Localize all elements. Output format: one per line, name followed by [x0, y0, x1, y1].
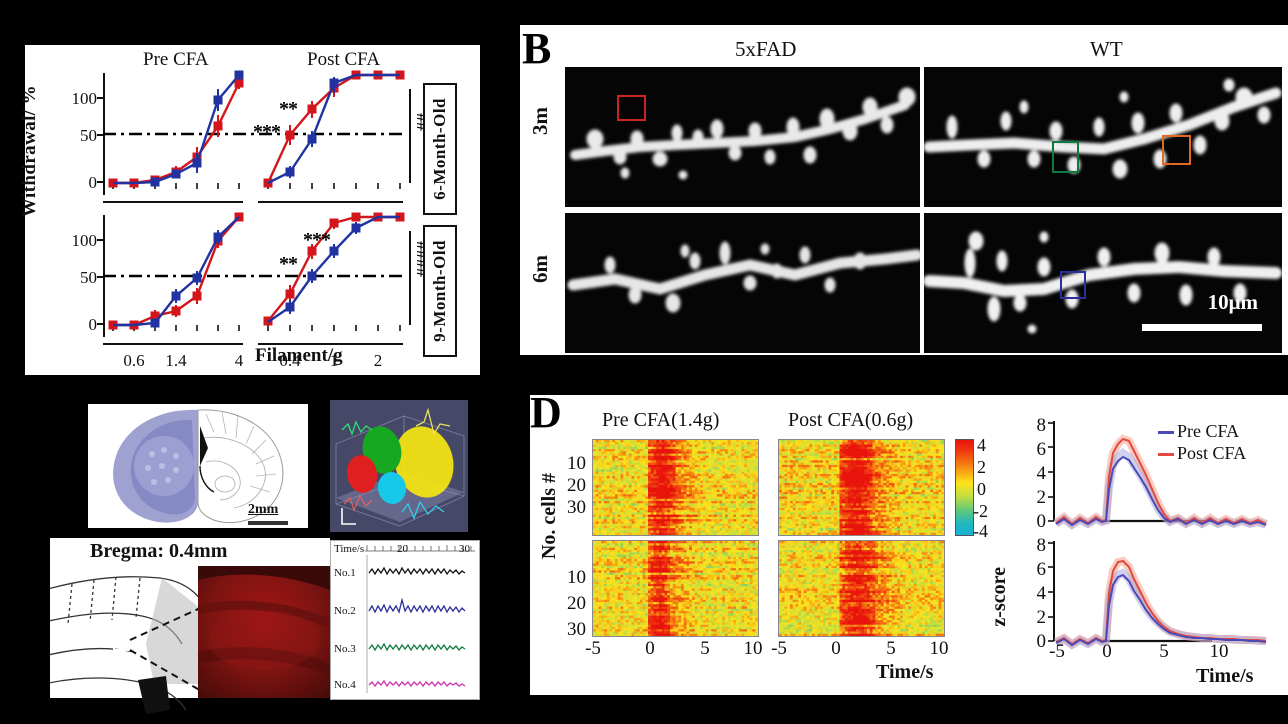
heatmap-xtick-pre-5: 5 — [688, 638, 722, 660]
colorbar-tick-0: 0 — [977, 479, 986, 500]
heatmap-xtick-pre-0: 0 — [633, 638, 667, 660]
trace-channel-label-2: No.2 — [334, 605, 356, 617]
heatmap-title-pre: Pre CFA(1.4g) — [602, 409, 719, 432]
panel-c-spike-cluster-3d — [330, 400, 468, 532]
y-tick-100: 100 — [57, 89, 97, 109]
y-tick-50: 50 — [57, 268, 97, 288]
panel-b-spines: B 5xFAD WT 3m 6m — [520, 25, 1288, 355]
column-header-5xfad: 5xFAD — [735, 37, 796, 62]
zscore-ytick-8-b: 8 — [1016, 535, 1046, 557]
heatmap-xtick-post-0: 0 — [819, 638, 853, 660]
heatmap-ytick-top-20: 20 — [556, 475, 586, 497]
zscore-ytick-4-b: 4 — [1016, 583, 1046, 605]
series-post-blue-6mo — [268, 75, 400, 183]
zscore-ytick-6-b: 6 — [1016, 559, 1046, 581]
panel-d-calcium: D Pre CFA(1.4g) Post CFA(0.6g) No. cells… — [530, 395, 1288, 695]
scale-bar-label-10um: 10μm — [1208, 290, 1258, 315]
zscore-ytick-4: 4 — [1016, 463, 1046, 485]
zscore-ytick-2: 2 — [1016, 487, 1046, 509]
panel-c-coronal-section: 2mm — [88, 404, 308, 528]
x-tick-pre-1.4: 1.4 — [156, 351, 196, 371]
panel-a-behavior: Pre CFA Post CFA Withdrawal/ % 100 50 0 — [25, 45, 480, 375]
zscore-ytick-0: 0 — [1016, 511, 1046, 533]
dendrite-render-wt-3m — [924, 67, 1282, 207]
significance-post-6mo-1: *** — [253, 121, 280, 144]
trace-time-tick-30: 30 — [459, 543, 470, 555]
heatmap-pre-top — [592, 439, 759, 536]
legend-swatch-post-cfa — [1158, 453, 1174, 456]
colorbar-tick-2: 2 — [977, 457, 986, 478]
legend-post-cfa: Post CFA — [1158, 443, 1246, 464]
x-ticks-post — [268, 183, 400, 189]
dendrite-render-5xfad-6m — [565, 213, 920, 353]
zscore-xtick-0: 0 — [1090, 641, 1124, 663]
zscore-xtick-10: 10 — [1202, 641, 1236, 663]
y-tick-0: 0 — [57, 173, 97, 193]
zscore-x-axis-title: Time/s — [1196, 665, 1253, 688]
trace-time-axis-label: Time/s — [334, 543, 364, 555]
zscore-ytick-6: 6 — [1016, 439, 1046, 461]
heatmap-xtick-post-5: 5 — [874, 638, 908, 660]
zscore-ytick-8: 8 — [1016, 415, 1046, 437]
micrograph-5xfad-6m — [565, 213, 920, 353]
trace-channel-label-4: No.4 — [334, 679, 356, 691]
micrograph-wt-6m: 10μm — [924, 213, 1282, 353]
colorbar — [955, 439, 974, 536]
zscore-trace-top: 8 6 4 2 0 Pre CFA Post CFA — [1030, 417, 1280, 535]
micrograph-5xfad-3m — [565, 67, 920, 207]
heatmap-ytick-top-10: 10 — [556, 453, 586, 475]
plot-svg-9mo — [103, 215, 403, 345]
legend-label-post-cfa: Post CFA — [1177, 443, 1246, 463]
legend-swatch-pre-cfa — [1158, 431, 1174, 434]
chart-6-month-old: 100 50 0 — [103, 73, 403, 203]
y-tick-100: 100 — [57, 231, 97, 251]
zscore-xtick-5: 5 — [1147, 641, 1181, 663]
age-label-9-month-old: 9-Month-Old — [430, 240, 450, 342]
colorbar-tick--4: -4 — [973, 521, 988, 542]
age-box-6-month-old: 6-Month-Old — [423, 83, 457, 215]
scale-bar-2mm — [248, 521, 288, 525]
panel-c-bregma-schematic: Bregma: 0.4mm — [50, 538, 330, 698]
cluster-3d-svg — [330, 400, 468, 532]
trace-post-cfa-bottom — [1056, 561, 1266, 644]
column-header-wt: WT — [1090, 37, 1123, 62]
post-cfa-header: Post CFA — [307, 49, 380, 71]
roi-box-red-5xfad-3m — [617, 95, 646, 121]
age-label-6-month-old: 6-Month-Old — [430, 98, 450, 200]
zscore-trace-top-svg — [1030, 417, 1280, 535]
trace-channel-label-1: No.1 — [334, 567, 356, 579]
recording-site-box — [114, 632, 130, 650]
scale-bar-label-2mm: 2mm — [248, 502, 278, 518]
trace-time-tick-20: 20 — [397, 543, 408, 555]
colorbar-tick--2: -2 — [973, 501, 988, 522]
heatmap-xtick-post-10: 10 — [922, 638, 956, 660]
heatmap-post-bottom — [778, 540, 945, 637]
panel-d-letter: D — [530, 391, 562, 435]
significance-post-9mo-1: ** — [279, 253, 297, 276]
heatmap-ytick-top-30: 30 — [556, 497, 586, 519]
zscore-y-axis-title: z-score — [988, 567, 1011, 627]
hash-bracket-9mo — [409, 231, 411, 325]
y-tick-50: 50 — [57, 126, 97, 146]
pre-cfa-header: Pre CFA — [143, 49, 209, 71]
chart-9-month-old: 100 50 0 — [103, 215, 403, 345]
trace-recordings-svg — [331, 541, 477, 697]
heatmap-pre-bottom — [592, 540, 759, 637]
legend-label-pre-cfa: Pre CFA — [1177, 421, 1239, 441]
heatmap-xtick-pre--5: -5 — [576, 638, 610, 660]
heatmap-post-top — [778, 439, 945, 536]
heatmap-title-post: Post CFA(0.6g) — [788, 409, 913, 432]
x-ticks-post — [268, 325, 400, 331]
dendrite-render-5xfad-3m — [565, 67, 920, 207]
colorbar-tick-4: 4 — [977, 435, 986, 456]
dendrite-render-wt-6m — [924, 213, 1282, 353]
zscore-ytick-2-b: 2 — [1016, 607, 1046, 629]
bregma-label: Bregma: 0.4mm — [90, 540, 227, 563]
trace-pre-cfa-bottom — [1056, 575, 1266, 645]
legend-pre-cfa: Pre CFA — [1158, 421, 1239, 442]
x-tick-pre-0.6: 0.6 — [114, 351, 154, 371]
panel-a-x-axis-title: Filament/g — [255, 345, 343, 367]
x-tick-post-2: 2 — [358, 351, 398, 371]
significance-post-6mo-2: ** — [279, 98, 297, 121]
hash-bracket-6mo — [409, 89, 411, 183]
trace-channel-label-3: No.3 — [334, 643, 356, 655]
roi-box-blue-wt-6m — [1060, 271, 1086, 299]
roi-box-green-wt-3m — [1052, 141, 1079, 173]
histology-red-image — [198, 566, 330, 698]
zscore-xtick--5: -5 — [1040, 641, 1074, 663]
y-tick-0: 0 — [57, 315, 97, 335]
heatmap-ytick-bottom-20: 20 — [556, 593, 586, 615]
row-label-6m: 6m — [528, 255, 553, 283]
trace-pre-cfa-top — [1056, 457, 1266, 525]
heatmap-xtick-post--5: -5 — [762, 638, 796, 660]
zscore-trace-bottom-svg — [1030, 537, 1280, 655]
scale-bar-10um — [1142, 324, 1262, 331]
heatmap-ytick-bottom-10: 10 — [556, 567, 586, 589]
heatmap-x-axis-title: Time/s — [876, 661, 933, 684]
panel-b-letter: B — [522, 27, 551, 71]
panel-a-y-axis-title: Withdrawal/ % — [19, 85, 41, 217]
significance-post-9mo-2: *** — [303, 229, 330, 252]
age-box-9-month-old: 9-Month-Old — [423, 225, 457, 357]
zscore-trace-bottom: 8 6 4 2 0 z-score -5 0 5 10 Time/s — [1030, 537, 1280, 655]
micrograph-wt-3m — [924, 67, 1282, 207]
series-pre-red-9mo — [109, 213, 243, 329]
x-tick-pre-4: 4 — [219, 351, 259, 371]
panel-a-condition-headers: Pre CFA Post CFA — [25, 47, 480, 73]
roi-box-orange-wt-3m — [1162, 135, 1191, 165]
panel-c-trace-recordings: Time/s 20 30 No.1 No.2 No.3 No.4 — [330, 540, 480, 700]
row-label-3m: 3m — [528, 107, 553, 135]
